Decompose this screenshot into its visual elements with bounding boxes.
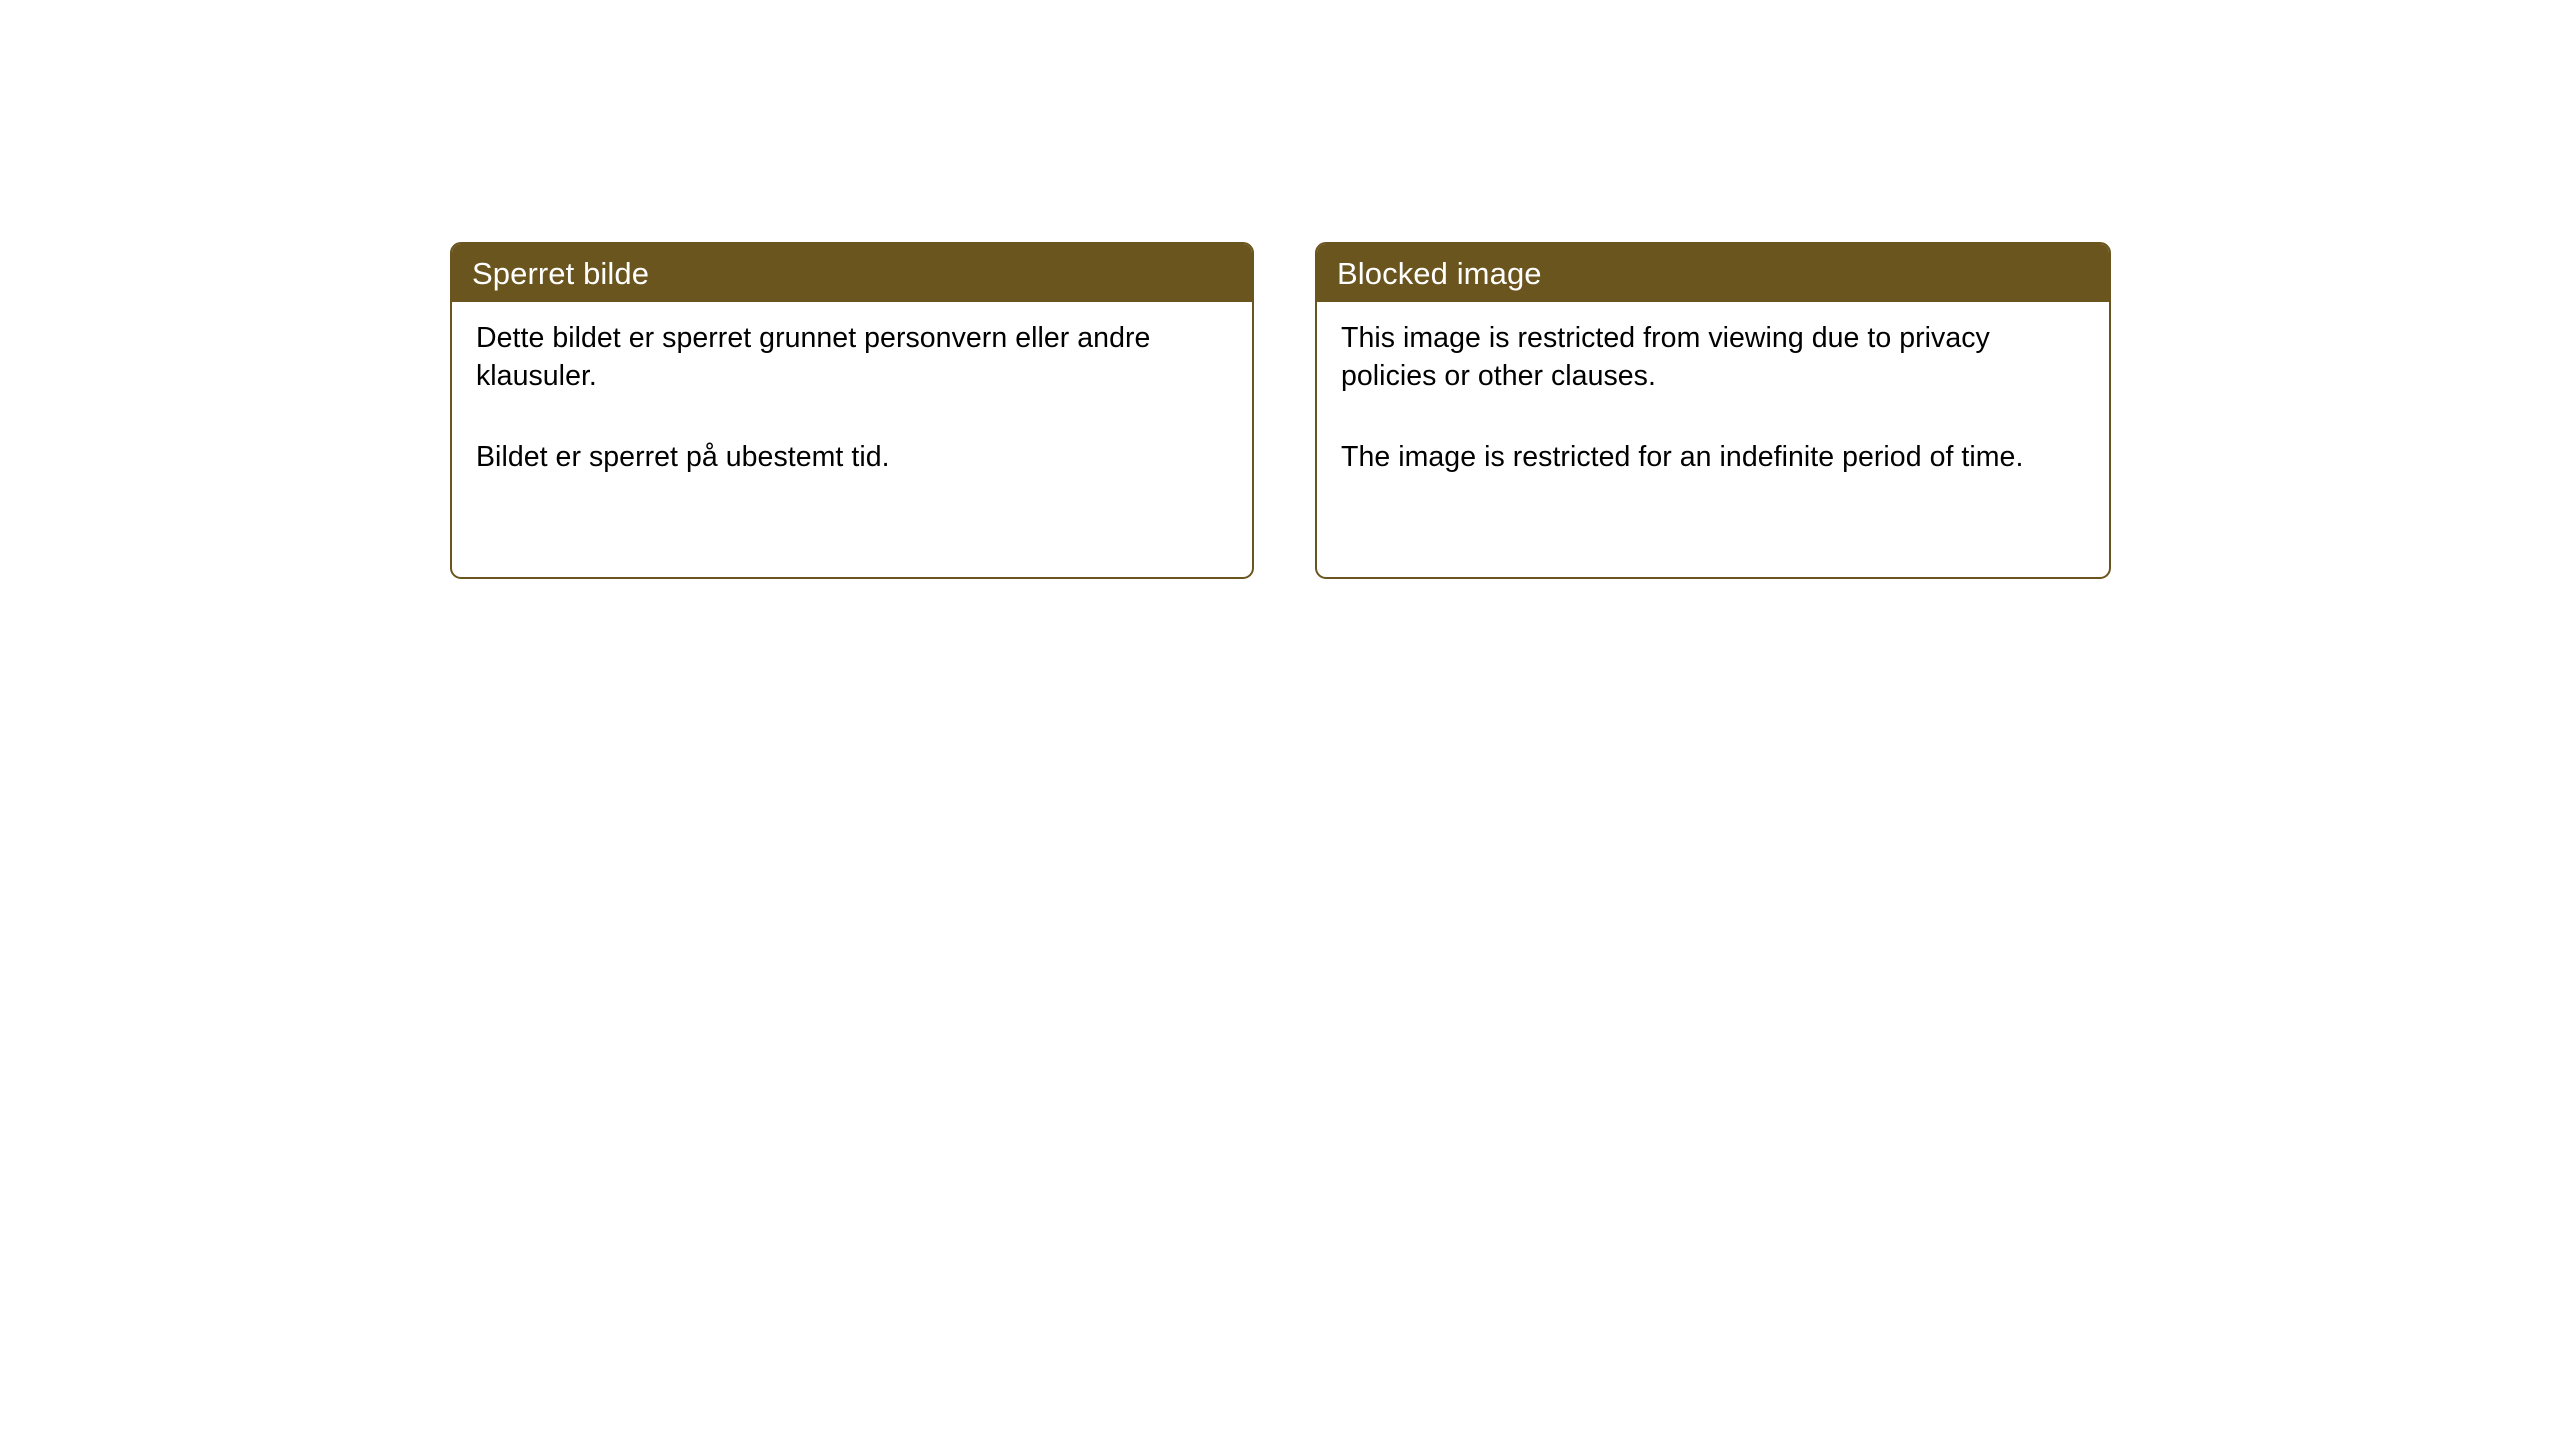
notice-paragraph-secondary-norwegian: Bildet er sperret på ubestemt tid. xyxy=(476,439,1230,477)
blocked-image-notice-english: Blocked image This image is restricted f… xyxy=(1315,242,2111,579)
notice-paragraph-primary-english: This image is restricted from viewing du… xyxy=(1341,320,2087,396)
panel-header-norwegian: Sperret bilde xyxy=(452,244,1252,302)
panel-title-english: Blocked image xyxy=(1337,258,1542,289)
notice-paragraph-secondary-english: The image is restricted for an indefinit… xyxy=(1341,439,2087,477)
panel-body-english: This image is restricted from viewing du… xyxy=(1317,302,2109,477)
panel-header-english: Blocked image xyxy=(1317,244,2109,302)
blocked-image-notice-norwegian: Sperret bilde Dette bildet er sperret gr… xyxy=(450,242,1254,579)
page-canvas: Sperret bilde Dette bildet er sperret gr… xyxy=(0,0,2560,1440)
panel-body-norwegian: Dette bildet er sperret grunnet personve… xyxy=(452,302,1252,477)
panel-title-norwegian: Sperret bilde xyxy=(472,258,649,289)
notice-paragraph-primary-norwegian: Dette bildet er sperret grunnet personve… xyxy=(476,320,1230,396)
